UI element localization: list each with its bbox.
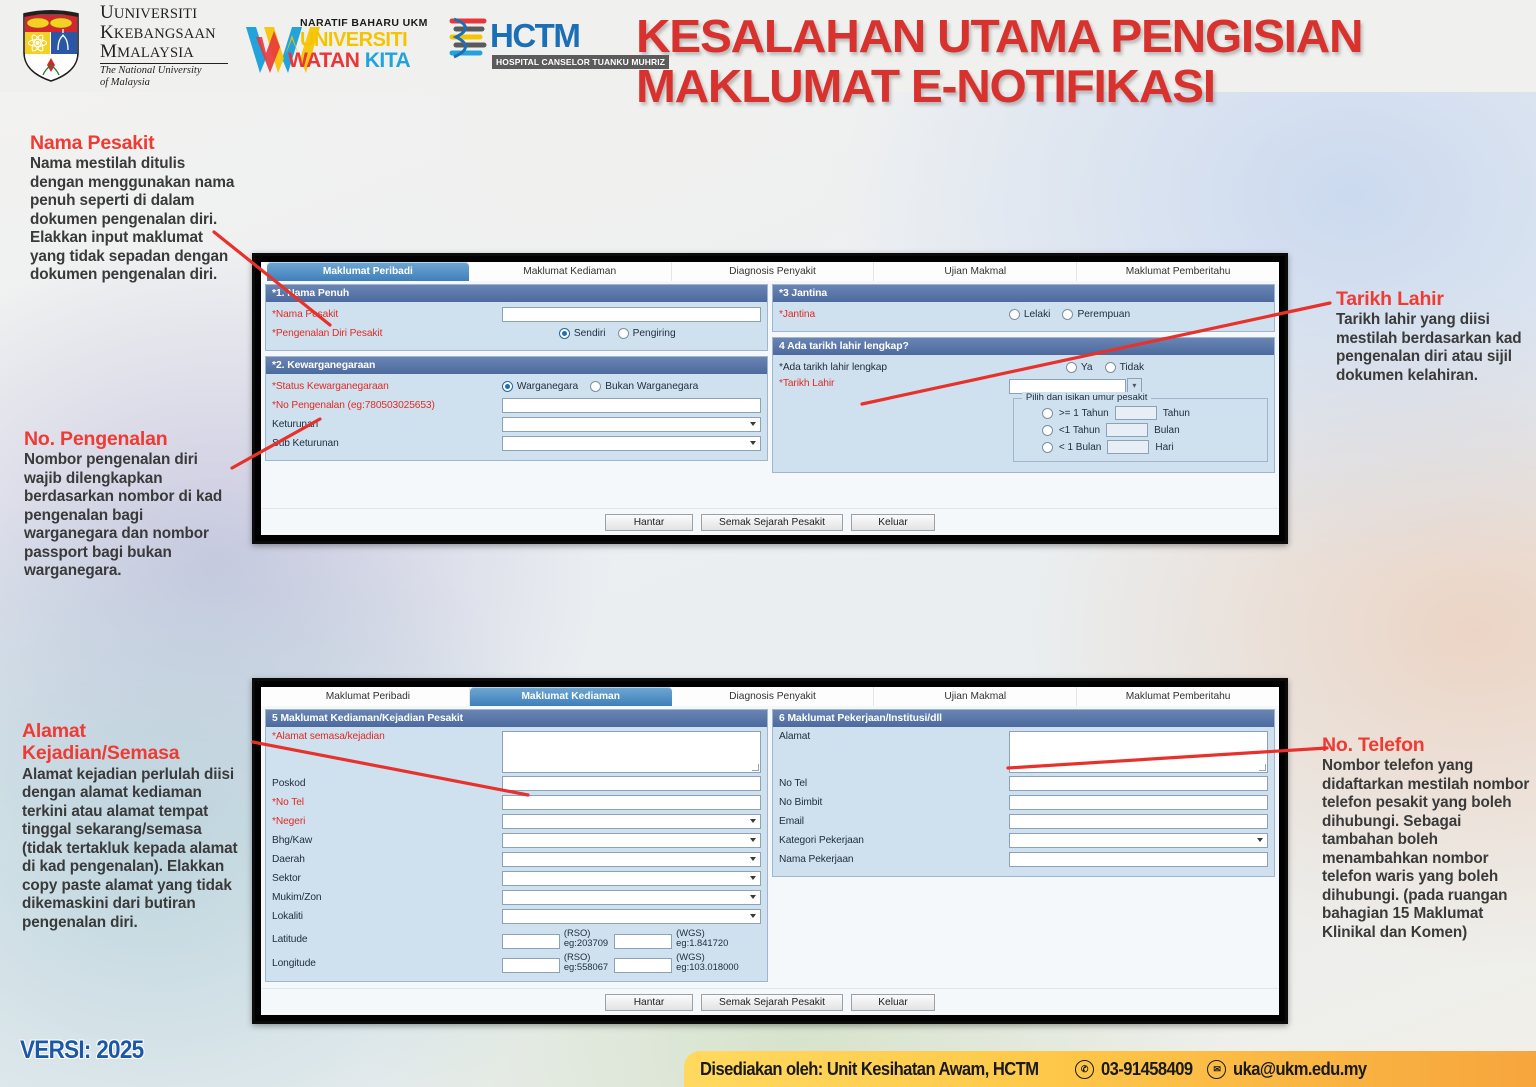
longitude-rso-input[interactable] [502, 958, 560, 973]
no-tel-pekerjaan-input[interactable] [1009, 776, 1268, 791]
longitude-wgs-hint-2: eg:103.018000 [676, 961, 739, 972]
tab-maklumat-peribadi[interactable]: Maklumat Peribadi [267, 262, 469, 281]
latitude-rso-hint-2: eg:203709 [564, 937, 608, 948]
ukm-line-2: KEBANGSAAN [114, 26, 216, 42]
email-address: uka@ukm.edu.my [1233, 1059, 1367, 1080]
label-no-pengenalan: *No Pengenalan (eg:780503025653) [272, 400, 502, 411]
field-row-sektor: Sektor [272, 870, 761, 887]
label-lokaliti: Lokaliti [272, 911, 502, 922]
no-pengenalan-input[interactable] [502, 398, 761, 413]
radio-sendiri[interactable]: Sendiri [559, 328, 606, 339]
naratif-line-2a: W [288, 49, 306, 72]
annotation-body: Alamat kejadian perlulah diisi dengan al… [22, 766, 240, 933]
label-no-tel: *No Tel [272, 797, 502, 808]
age-option-label: <1 Tahun [1059, 425, 1100, 436]
label-daerah: Daerah [272, 854, 502, 865]
annotation-body: Tarikh lahir yang diisi mestilah berdasa… [1336, 311, 1536, 385]
panel-nama-penuh: *1. Nama Penuh *Nama Pesakit *Pengenalan… [265, 284, 768, 351]
button-row-1: Hantar Semak Sejarah Pesakit Keluar [261, 508, 1279, 535]
hctm-logo: HCTM HOSPITAL CANSELOR TUANKU MUHRIZ [446, 15, 646, 77]
hantar-button[interactable]: Hantar [605, 514, 693, 531]
age-tahun-input[interactable] [1115, 406, 1157, 420]
radio-dot-icon[interactable] [1042, 425, 1053, 436]
field-row-longitude: Longitude (RSO)eg:558067 (WGS)eg:103.018… [272, 951, 761, 973]
daerah-select[interactable] [502, 852, 761, 867]
hantar-button[interactable]: Hantar [605, 994, 693, 1011]
poskod-input[interactable] [502, 776, 761, 791]
radio-label: Warganegara [517, 381, 578, 392]
tab-ujian-makmal[interactable]: Ujian Makmal [874, 262, 1077, 281]
radio-dot-icon [559, 328, 570, 339]
field-row-jantina: *Jantina Lelaki Perempuan [779, 306, 1268, 323]
bhg-kaw-select[interactable] [502, 833, 761, 848]
field-row-poskod: Poskod [272, 775, 761, 792]
radio-label: Pengiring [633, 328, 676, 339]
annotation-heading: Tarikh Lahir [1336, 288, 1536, 310]
radio-dot-icon [590, 381, 601, 392]
field-row-bhg-kaw: Bhg/Kaw [272, 832, 761, 849]
page-title: KESALAHAN UTAMA PENGISIAN MAKLUMAT E-NOT… [636, 12, 1516, 111]
tab-label: Maklumat Pemberitahu [1126, 691, 1231, 702]
naratif-tagline: NARATIF BAHARU UKM [300, 17, 428, 29]
semak-sejarah-pesakit-button[interactable]: Semak Sejarah Pesakit [701, 994, 843, 1011]
annotation-heading: No. Pengenalan [24, 428, 236, 450]
age-row-tahun: >= 1 Tahun Tahun [1042, 406, 1261, 420]
tab-label: Maklumat Peribadi [326, 691, 410, 702]
phone-icon: ✆ [1075, 1060, 1094, 1079]
annotation-heading: Alamat Kejadian/Semasa [22, 720, 240, 765]
tab-diagnosis-penyakit[interactable]: Diagnosis Penyakit [672, 262, 875, 281]
panel-maklumat-pekerjaan: 6 Maklumat Pekerjaan/Institusi/dll Alama… [772, 709, 1275, 877]
age-hari-input[interactable] [1107, 440, 1149, 454]
panel-kewarganegaraan: *2. Kewarganegaraan *Status Kewarganegar… [265, 356, 768, 461]
radio-label: Lelaki [1024, 309, 1051, 320]
radio-label: Sendiri [574, 328, 606, 339]
label-keturunan: Keturunan [272, 419, 502, 430]
field-row-negeri: *Negeri [272, 813, 761, 830]
radio-dot-icon [502, 381, 513, 392]
field-row-pengenalan-diri: *Pengenalan Diri Pesakit Sendiri Pengiri… [272, 325, 761, 342]
version-label: VERSI: 2025 [20, 1036, 143, 1065]
age-row-hari: < 1 Bulan Hari [1042, 440, 1261, 454]
keturunan-select[interactable] [502, 417, 761, 432]
radio-dot-icon [1062, 309, 1073, 320]
title-line-1: KESALAHAN UTAMA PENGISIAN [636, 12, 1536, 62]
radio-dot-icon [1066, 362, 1077, 373]
tabbar-2: Maklumat Peribadi Maklumat Kediaman Diag… [261, 687, 1279, 707]
longitude-rso-hint-2: eg:558067 [564, 961, 608, 972]
age-option-label: >= 1 Tahun [1059, 408, 1109, 419]
sektor-select[interactable] [502, 871, 761, 886]
field-row-alamat-pekerjaan: Alamat [779, 731, 1268, 773]
radio-label: Perempuan [1077, 309, 1130, 320]
radio-ya[interactable]: Ya [1066, 362, 1093, 373]
title-line-2: MAKLUMAT E-NOTIFIKASI [636, 62, 1536, 112]
radio-dot-icon [1105, 362, 1116, 373]
phone-number: 03-91458409 [1101, 1059, 1193, 1080]
nama-pesakit-input[interactable] [502, 307, 761, 322]
screenshot-maklumat-peribadi: Maklumat Peribadi Maklumat Kediaman Diag… [252, 253, 1288, 544]
field-row-ada-tarikh-lahir: *Ada tarikh lahir lengkap Ya Tidak [779, 359, 1268, 376]
tab-label: Ujian Makmal [944, 266, 1006, 277]
ukm-crest-icon [18, 8, 84, 84]
field-row-no-bimbit: No Bimbit [779, 794, 1268, 811]
no-bimbit-input[interactable] [1009, 795, 1268, 810]
prepared-by-label: Disediakan oleh: Unit Kesihatan Awam, HC… [700, 1059, 1038, 1080]
latitude-wgs-input[interactable] [614, 934, 672, 949]
label-ada-tarikh-lahir: *Ada tarikh lahir lengkap [779, 362, 1009, 373]
field-row-keturunan: Keturunan [272, 416, 761, 433]
umur-pesakit-fieldset: Pilih dan isikan umur pesakit >= 1 Tahun… [1013, 398, 1268, 462]
radio-dot-icon[interactable] [1042, 408, 1053, 419]
ukm-sub-2: of Malaysia [100, 77, 228, 89]
field-row-mukim-zon: Mukim/Zon [272, 889, 761, 906]
latitude-wgs-hint-2: eg:1.841720 [676, 937, 728, 948]
annotation-alamat-kejadian: Alamat Kejadian/Semasa Alamat kejadian p… [22, 720, 240, 932]
label-poskod: Poskod [272, 778, 502, 789]
radio-tidak[interactable]: Tidak [1105, 362, 1145, 373]
label-no-bimbit: No Bimbit [779, 797, 1009, 808]
button-row-2: Hantar Semak Sejarah Pesakit Keluar [261, 988, 1279, 1015]
panel-header: *2. Kewarganegaraan [266, 357, 767, 374]
ukm-line-1: UNIVERSITI [114, 6, 197, 22]
ukm-wordmark: UUNIVERSITI KKEBANGSAAN MMALAYSIA The Na… [100, 3, 228, 89]
panel-header: *1. Nama Penuh [266, 285, 767, 302]
hctm-acronym: HCTM [490, 17, 579, 55]
no-tel-input[interactable] [502, 795, 761, 810]
negeri-select[interactable] [502, 814, 761, 829]
longitude-wgs-input[interactable] [614, 958, 672, 973]
tab-diagnosis-penyakit[interactable]: Diagnosis Penyakit [672, 687, 875, 706]
annotation-heading: Nama Pesakit [30, 132, 242, 154]
field-row-nama-pekerjaan: Nama Pekerjaan [779, 851, 1268, 868]
keluar-button[interactable]: Keluar [851, 514, 935, 531]
annotation-no-pengenalan: No. Pengenalan Nombor pengenalan diri wa… [24, 428, 236, 581]
form-body-1: *1. Nama Penuh *Nama Pesakit *Pengenalan… [261, 281, 1279, 535]
tab-maklumat-kediaman[interactable]: Maklumat Kediaman [469, 262, 672, 281]
dna-helix-icon [446, 17, 490, 61]
radio-label: Bukan Warganegara [605, 381, 698, 392]
panel-header: 6 Maklumat Pekerjaan/Institusi/dll [773, 710, 1274, 727]
label-alamat-semasa: *Alamat semasa/kejadian [272, 731, 502, 742]
tab-label: Diagnosis Penyakit [729, 266, 816, 277]
radio-perempuan[interactable]: Perempuan [1062, 309, 1130, 320]
field-row-sub-keturunan: Sub Keturunan [272, 435, 761, 452]
annotation-body: Nombor pengenalan diri wajib dilengkapka… [24, 451, 236, 581]
field-row-latitude: Latitude (RSO)eg:203709 (WGS)eg:1.841720 [272, 927, 761, 949]
label-nama-pesakit: *Nama Pesakit [272, 309, 502, 320]
tab-label: Diagnosis Penyakit [729, 691, 816, 702]
tab-maklumat-pemberitahu[interactable]: Maklumat Pemberitahu [1077, 687, 1279, 706]
footer-contact-bar: Disediakan oleh: Unit Kesihatan Awam, HC… [684, 1051, 1536, 1087]
annotation-no-telefon: No. Telefon Nombor telefon yang didaftar… [1322, 734, 1534, 942]
radio-dot-icon [618, 328, 629, 339]
semak-sejarah-pesakit-button[interactable]: Semak Sejarah Pesakit [701, 514, 843, 531]
label-sektor: Sektor [272, 873, 502, 884]
field-row-nama-pesakit: *Nama Pesakit [272, 306, 761, 323]
annotation-body: Nama mestilah ditulis dengan menggunakan… [30, 155, 242, 285]
field-row-no-tel: *No Tel [272, 794, 761, 811]
keluar-button[interactable]: Keluar [851, 994, 935, 1011]
tab-ujian-makmal[interactable]: Ujian Makmal [874, 687, 1077, 706]
label-longitude: Longitude [272, 951, 502, 969]
label-nama-pekerjaan: Nama Pekerjaan [779, 854, 1009, 865]
latitude-rso-input[interactable] [502, 934, 560, 949]
label-pengenalan-diri: *Pengenalan Diri Pesakit [272, 328, 502, 339]
naratif-line-2c: KITA [365, 49, 410, 72]
annotation-nama-pesakit: Nama Pesakit Nama mestilah ditulis denga… [30, 132, 242, 285]
email-input[interactable] [1009, 814, 1268, 829]
field-row-kategori-pekerjaan: Kategori Pekerjaan [779, 832, 1268, 849]
label-latitude: Latitude [272, 927, 502, 945]
label-jantina: *Jantina [779, 309, 1009, 320]
logo-row: UUNIVERSITI KKEBANGSAAN MMALAYSIA The Na… [18, 4, 618, 88]
nama-pekerjaan-input[interactable] [1009, 852, 1268, 867]
field-row-email: Email [779, 813, 1268, 830]
tab-label: Maklumat Pemberitahu [1126, 266, 1231, 277]
age-bulan-input[interactable] [1106, 423, 1148, 437]
field-row-status-kewarganegaraan: *Status Kewarganegaraan Warganegara Buka… [272, 378, 761, 395]
annotation-tarikh-lahir: Tarikh Lahir Tarikh lahir yang diisi mes… [1336, 288, 1536, 385]
radio-lelaki[interactable]: Lelaki [1009, 309, 1051, 320]
tab-label: Maklumat Peribadi [323, 266, 413, 277]
tab-maklumat-pemberitahu[interactable]: Maklumat Pemberitahu [1077, 262, 1279, 281]
alamat-pekerjaan-textarea[interactable] [1009, 731, 1268, 773]
label-no-tel-pekerjaan: No Tel [779, 778, 1009, 789]
annotation-heading: No. Telefon [1322, 734, 1534, 756]
radio-label: Tidak [1120, 362, 1145, 373]
age-option-label: < 1 Bulan [1059, 442, 1102, 453]
naratif-line-2b: ATAN [306, 49, 365, 72]
field-row-tarikh-lahir: *Tarikh Lahir ▾ Pilih dan isikan umur pe… [779, 378, 1268, 462]
screenshot-maklumat-kediaman: Maklumat Peribadi Maklumat Kediaman Diag… [252, 678, 1288, 1024]
sub-keturunan-select[interactable] [502, 436, 761, 451]
panel-maklumat-kediaman: 5 Maklumat Kediaman/Kejadian Pesakit *Al… [265, 709, 768, 982]
panel-header: 4 Ada tarikh lahir lengkap? [773, 338, 1274, 355]
lokaliti-select[interactable] [502, 909, 761, 924]
radio-label: Ya [1081, 362, 1093, 373]
radio-pengiring[interactable]: Pengiring [618, 328, 676, 339]
tab-maklumat-kediaman[interactable]: Maklumat Kediaman [470, 687, 672, 706]
label-sub-keturunan: Sub Keturunan [272, 438, 502, 449]
label-mukim-zon: Mukim/Zon [272, 892, 502, 903]
label-negeri: *Negeri [272, 816, 502, 827]
radio-warganegara[interactable]: Warganegara [502, 381, 578, 392]
fieldset-legend: Pilih dan isikan umur pesakit [1022, 392, 1152, 403]
label-alamat-pekerjaan: Alamat [779, 731, 1009, 742]
naratif-baharu-logo: NARATIF BAHARU UKM UNIVERSITI WATAN KITA [244, 15, 430, 77]
kategori-pekerjaan-select[interactable] [1009, 833, 1268, 848]
label-email: Email [779, 816, 1009, 827]
field-row-lokaliti: Lokaliti [272, 908, 761, 925]
alamat-semasa-textarea[interactable] [502, 731, 761, 773]
tabbar-1: Maklumat Peribadi Maklumat Kediaman Diag… [261, 262, 1279, 282]
radio-dot-icon[interactable] [1042, 442, 1053, 453]
tab-label: Maklumat Kediaman [521, 691, 620, 702]
label-kategori-pekerjaan: Kategori Pekerjaan [779, 835, 1009, 846]
form-body-2: 5 Maklumat Kediaman/Kejadian Pesakit *Al… [261, 706, 1279, 1015]
tab-label: Ujian Makmal [944, 691, 1006, 702]
age-unit-label: Hari [1155, 442, 1195, 453]
label-status-kewarganegaraan: *Status Kewarganegaraan [272, 381, 502, 392]
age-row-bulan: <1 Tahun Bulan [1042, 423, 1261, 437]
label-bhg-kaw: Bhg/Kaw [272, 835, 502, 846]
tab-label: Maklumat Kediaman [523, 266, 616, 277]
ukm-sub-1: The National University [100, 65, 228, 77]
age-unit-label: Bulan [1154, 425, 1194, 436]
radio-bukan-warganegara[interactable]: Bukan Warganegara [590, 381, 698, 392]
panel-header: 5 Maklumat Kediaman/Kejadian Pesakit [266, 710, 767, 727]
annotation-body: Nombor telefon yang didaftarkan mestilah… [1322, 757, 1534, 942]
panel-tarikh-lahir: 4 Ada tarikh lahir lengkap? *Ada tarikh … [772, 337, 1275, 473]
field-row-no-pengenalan: *No Pengenalan (eg:780503025653) [272, 397, 761, 414]
panel-header: *3 Jantina [773, 285, 1274, 302]
ukm-line-3: MALAYSIA [117, 45, 194, 61]
field-row-alamat-semasa: *Alamat semasa/kejadian [272, 731, 761, 773]
field-row-no-tel-pekerjaan: No Tel [779, 775, 1268, 792]
age-unit-label: Tahun [1163, 408, 1203, 419]
label-tarikh-lahir: *Tarikh Lahir [779, 378, 1009, 389]
panel-jantina: *3 Jantina *Jantina Lelaki Perempuan [772, 284, 1275, 332]
radio-dot-icon [1009, 309, 1020, 320]
envelope-icon: ✉ [1207, 1060, 1226, 1079]
mukim-zon-select[interactable] [502, 890, 761, 905]
field-row-daerah: Daerah [272, 851, 761, 868]
tab-maklumat-peribadi[interactable]: Maklumat Peribadi [267, 687, 470, 706]
